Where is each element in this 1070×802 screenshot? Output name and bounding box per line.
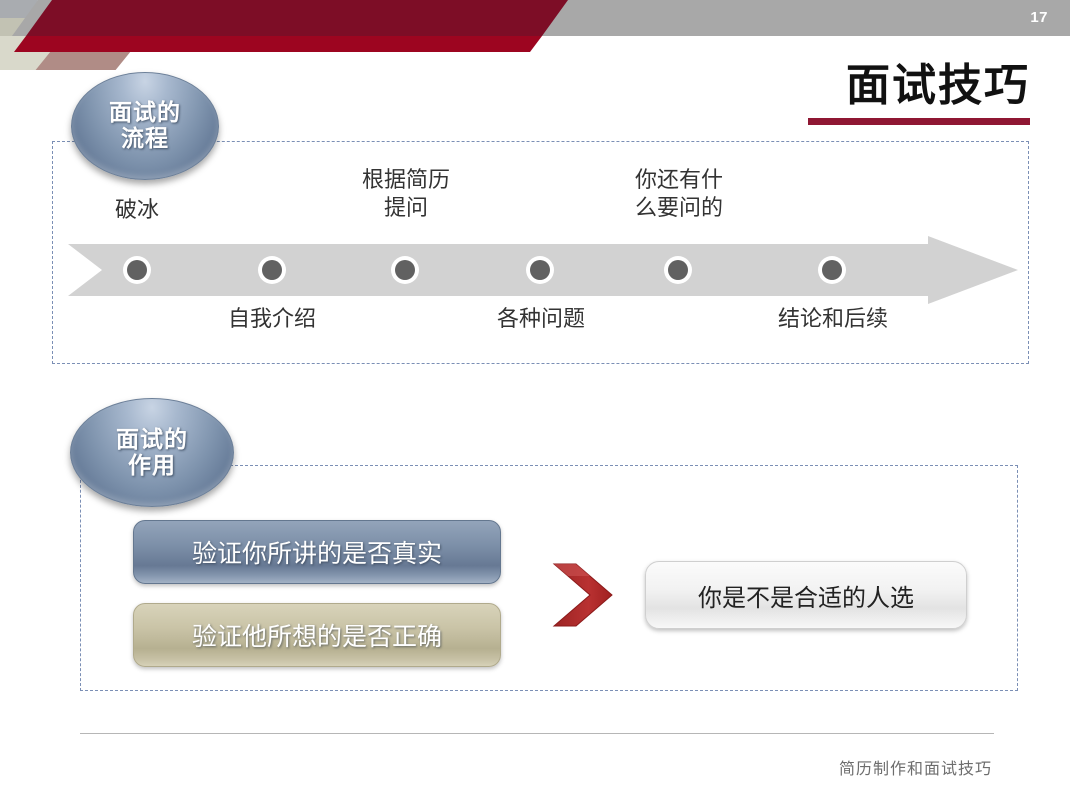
footer-text: 简历制作和面试技巧 [839,755,992,779]
timeline-dot-4 [668,260,688,280]
banner-shape-red-strip [14,36,542,52]
banner-shape-darkred [26,0,568,36]
badge-process-line2: 流程 [121,126,169,152]
footer-divider [80,733,994,734]
slide-canvas: 17 面试技巧 面试的 流程 破冰 根据简历提问 你还有什么要问的 自我介绍 各… [0,0,1070,802]
timeline-label-above-2: 你还有什么要问的 [599,166,759,221]
page-number: 17 [1030,9,1048,26]
purpose-box-tan: 验证他所想的是否正确 [133,603,501,667]
timeline-label-below-0: 自我介绍 [192,305,352,333]
timeline-label-below-1: 各种问题 [461,305,621,333]
badge-purpose-line2: 作用 [128,453,176,479]
badge-process-line1: 面试的 [109,100,181,126]
timeline-dots-layer [68,236,1018,304]
purpose-result-box: 你是不是合适的人选 [645,561,967,629]
timeline-dot-3 [530,260,550,280]
badge-purpose-line1: 面试的 [116,427,188,453]
right-chevron-icon [546,556,624,634]
badge-process: 面试的 流程 [71,72,219,180]
purpose-box-blue: 验证你所讲的是否真实 [133,520,501,584]
timeline-label-above-0: 破冰 [57,196,217,224]
page-title: 面试技巧 [846,64,1030,108]
timeline-dot-1 [262,260,282,280]
chevron-highlight [554,564,590,576]
timeline-label-above-1: 根据简历提问 [326,166,486,221]
title-underline-rule [808,118,1030,125]
timeline-dot-2 [395,260,415,280]
timeline-dot-0 [127,260,147,280]
badge-purpose: 面试的 作用 [70,398,234,507]
timeline-label-below-2: 结论和后续 [753,305,913,333]
header-banner-decoration [0,0,1070,70]
timeline-dot-5 [822,260,842,280]
